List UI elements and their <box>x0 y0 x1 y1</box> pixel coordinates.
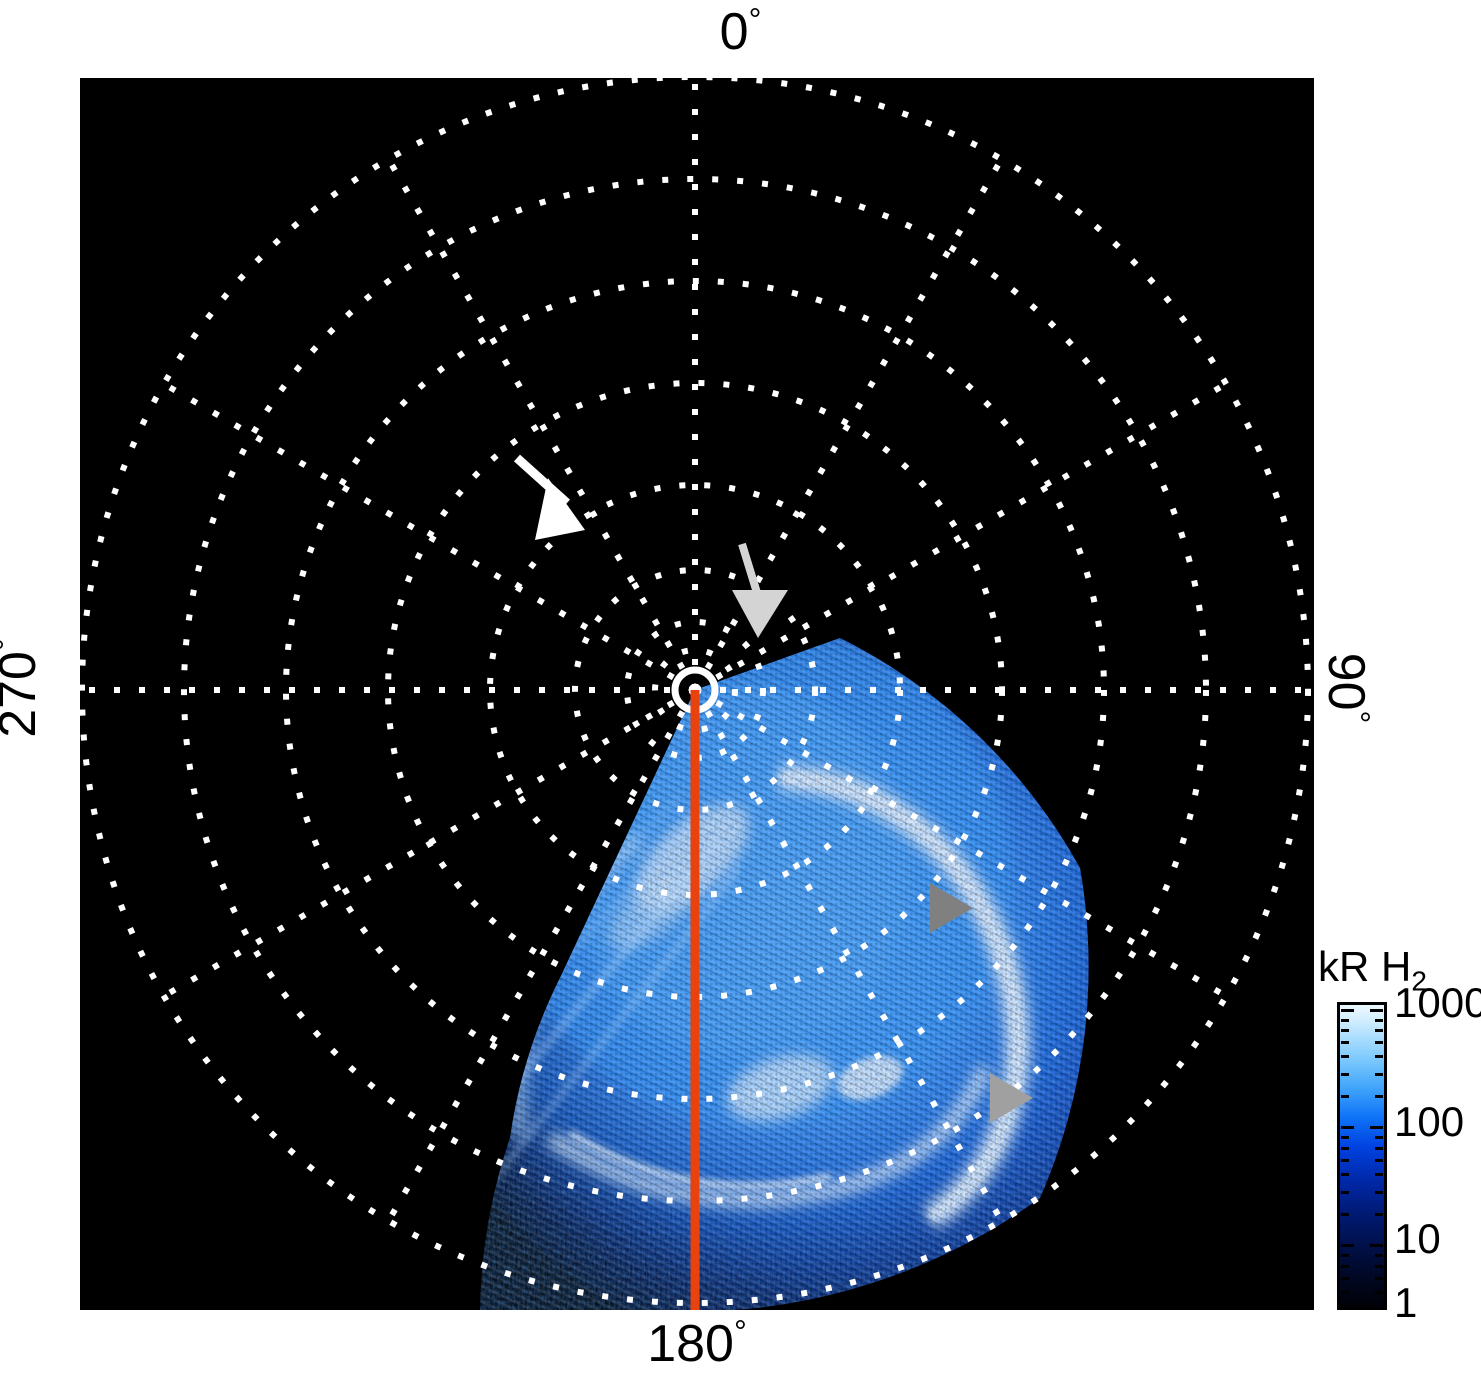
colorbar-gradient <box>1337 1002 1387 1310</box>
gray-arrow <box>732 544 788 638</box>
colorbar-tick-10: 10 <box>1394 1218 1441 1260</box>
polar-plot-panel <box>80 78 1314 1310</box>
colorbar-tick-100: 100 <box>1394 1101 1464 1143</box>
axis-label-top: 0° <box>0 6 1481 58</box>
gray-triangle-marker-2 <box>990 1073 1033 1123</box>
axis-label-bottom: 180° <box>80 1318 1314 1370</box>
axis-label-right: 90° <box>1320 608 1372 768</box>
white-arrow <box>517 458 585 540</box>
figure-root: 0° 180° 270° 90° <box>0 0 1481 1386</box>
axis-label-left: 270° <box>0 608 44 768</box>
colorbar-tick-1000: 1000 <box>1394 982 1481 1024</box>
gray-triangle-marker-1 <box>930 883 973 933</box>
colorbar-tick-1: 1 <box>1394 1282 1417 1324</box>
polar-graticule <box>80 78 1314 1310</box>
